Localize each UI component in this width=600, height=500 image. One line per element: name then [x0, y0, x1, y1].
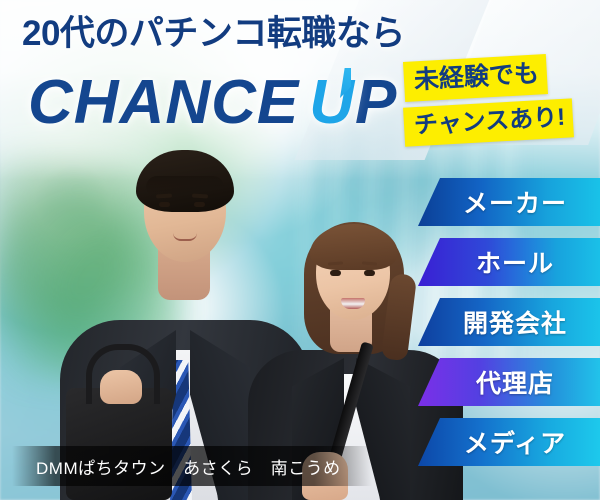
category-label: 代理店: [476, 364, 554, 400]
category-label: メーカー: [463, 184, 567, 220]
category-button-maker[interactable]: メーカー: [418, 178, 600, 226]
category-button-developer[interactable]: 開発会社: [418, 298, 600, 346]
logotype: CHANCEUP: [28, 72, 397, 134]
businessman-eye-left: [159, 202, 170, 207]
businesswoman-eye-left: [330, 270, 341, 276]
callout-badge-line-1: 未経験でも: [403, 54, 548, 102]
category-label: 開発会社: [463, 304, 567, 340]
businessman-hand: [100, 370, 142, 404]
category-label: メディア: [464, 424, 566, 460]
category-label: ホール: [476, 244, 554, 280]
headline-text: 20代のパチンコ転職なら: [22, 16, 405, 51]
advertisement-banner[interactable]: 20代のパチンコ転職なら CHANCEUP 未経験でも チャンスあり!: [0, 0, 600, 500]
category-button-media[interactable]: メディア: [418, 418, 600, 466]
businesswoman-eye-right: [364, 270, 375, 276]
logotype-chance: CHANCE: [28, 68, 299, 137]
credit-caption: DMMぱちタウン あさくら 南こうめ: [12, 446, 372, 486]
businessman-eye-right: [194, 202, 205, 207]
logotype-p: P: [355, 68, 397, 137]
businessman-hair: [136, 150, 234, 212]
businesswoman-bangs: [310, 224, 398, 270]
category-button-agency[interactable]: 代理店: [418, 358, 600, 406]
category-button-hall[interactable]: ホール: [418, 238, 600, 286]
logotype-u-accent: U: [309, 72, 355, 134]
